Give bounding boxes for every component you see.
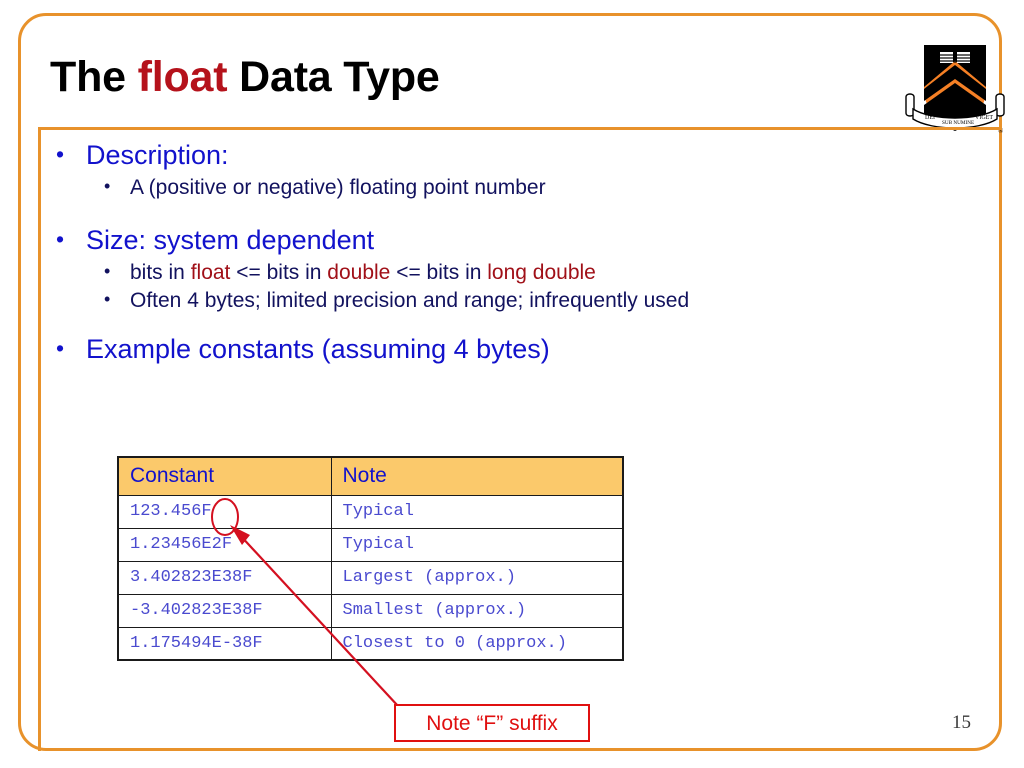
bullet-description-sub: A (positive or negative) floating point … — [52, 174, 932, 202]
bullet-size-sub-bits: bits in float <= bits in double <= bits … — [52, 259, 932, 287]
motto-left: DEI — [925, 115, 935, 121]
table-row: -3.402823E38F Smallest (approx.) — [118, 594, 623, 627]
column-header-note: Note — [331, 457, 623, 495]
cell-constant: -3.402823E38F — [118, 594, 331, 627]
table-row: 3.402823E38F Largest (approx.) — [118, 561, 623, 594]
bullet-size: Size: system dependent — [52, 223, 932, 257]
title-text-after: Data Type — [227, 53, 439, 101]
page-title: The float Data Type — [50, 53, 440, 102]
cell-constant: 3.402823E38F — [118, 561, 331, 594]
cell-constant: 1.175494E-38F — [118, 627, 331, 660]
bullet-example-constants: Example constants (assuming 4 bytes) — [52, 332, 932, 366]
page-number: 15 — [952, 712, 971, 734]
cell-note: Largest (approx.) — [331, 561, 623, 594]
spacer — [52, 315, 932, 332]
keyword-float: float — [191, 261, 231, 284]
column-header-constant: Constant — [118, 457, 331, 495]
keyword-long-double: long double — [487, 261, 596, 284]
bits-text-3: <= bits in — [390, 261, 487, 284]
cell-note: Closest to 0 (approx.) — [331, 627, 623, 660]
table-body: 123.456F Typical 1.23456E2F Typical 3.40… — [118, 495, 623, 660]
title-text-before: The — [50, 53, 138, 101]
title-keyword-float: float — [138, 53, 228, 101]
keyword-double: double — [327, 261, 390, 284]
bullet-description: Description: — [52, 138, 932, 172]
cell-constant: 1.23456E2F — [118, 528, 331, 561]
bits-text-2: <= bits in — [230, 261, 327, 284]
bullet-size-sub-often: Often 4 bytes; limited precision and ran… — [52, 287, 932, 315]
princeton-shield-logo: DEI SUB NUMINE VIGET ® — [902, 39, 1008, 137]
cell-constant: 123.456F — [118, 495, 331, 528]
cell-note: Smallest (approx.) — [331, 594, 623, 627]
table-header-row: Constant Note — [118, 457, 623, 495]
cell-note: Typical — [331, 495, 623, 528]
cell-note: Typical — [331, 528, 623, 561]
annotation-callout-box: Note “F” suffix — [394, 704, 590, 742]
title-band: The float Data Type — [18, 13, 1002, 127]
table-row: 1.23456E2F Typical — [118, 528, 623, 561]
motto-right: VIGET — [975, 115, 993, 121]
bullet-list: Description: A (positive or negative) fl… — [52, 138, 932, 368]
bits-text-1: bits in — [130, 261, 191, 284]
constants-table: Constant Note 123.456F Typical 1.23456E2… — [117, 456, 624, 661]
table-row: 123.456F Typical — [118, 495, 623, 528]
table-row: 1.175494E-38F Closest to 0 (approx.) — [118, 627, 623, 660]
motto-center: SUB NUMINE — [942, 120, 974, 126]
spacer — [52, 202, 932, 223]
